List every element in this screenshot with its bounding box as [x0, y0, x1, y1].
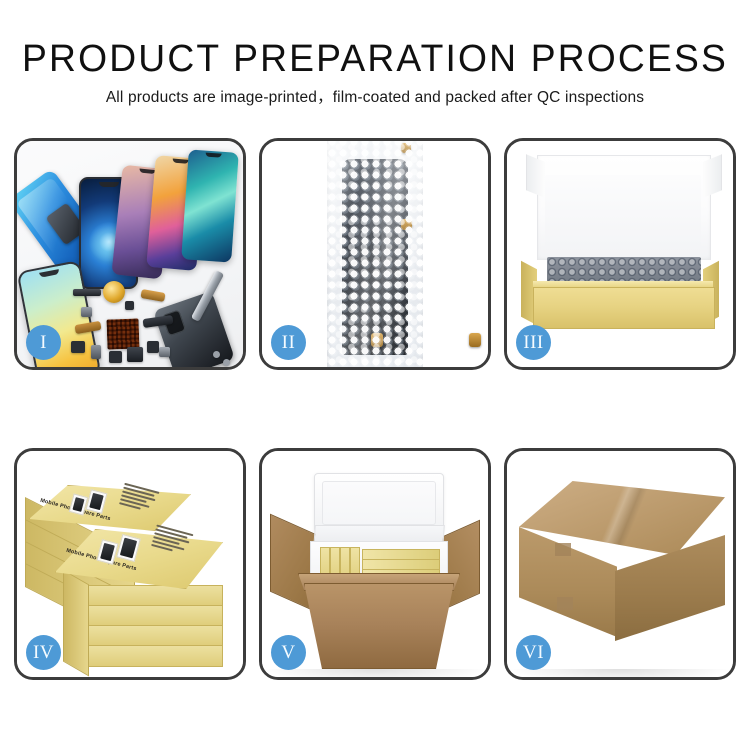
part-shape — [71, 341, 85, 353]
screw-shape — [213, 351, 220, 358]
copper-shield-shape — [106, 318, 139, 349]
page-subtitle: All products are image-printed，film-coat… — [0, 89, 750, 107]
part-shape — [127, 347, 143, 362]
step-badge-5: V — [271, 635, 306, 670]
step-badge-2: II — [271, 325, 306, 360]
carton-tape-shape — [555, 543, 571, 556]
box-face-shape — [81, 645, 223, 667]
screw-shape — [223, 359, 230, 366]
process-step-panel-2: II — [259, 138, 491, 370]
process-step-panel-1: I — [14, 138, 246, 370]
connector-shape — [469, 333, 481, 347]
box-face-shape — [81, 625, 223, 647]
step-badge-1: I — [26, 325, 61, 360]
drop-shadow — [507, 669, 733, 677]
flex-cable-shape — [140, 289, 165, 302]
step-badge-6: VI — [516, 635, 551, 670]
part-shape — [159, 347, 170, 357]
drop-shadow — [262, 669, 488, 677]
box-face-shape — [81, 585, 223, 607]
product-preparation-infographic: PRODUCT PREPARATION PROCESS All products… — [0, 0, 750, 750]
process-step-panel-5: V — [259, 448, 491, 680]
step-badge-4: IV — [26, 635, 61, 670]
part-shape — [81, 307, 92, 317]
plastic-sheen — [327, 141, 423, 367]
yellow-box-front-shape — [533, 287, 715, 329]
process-step-panel-6: VI — [504, 448, 736, 680]
header: PRODUCT PREPARATION PROCESS All products… — [0, 0, 750, 107]
phone-shape-c — [181, 149, 239, 262]
foam-sheet-shape — [545, 175, 701, 257]
speaker-coil-shape — [103, 281, 125, 303]
step-badge-3: III — [516, 325, 551, 360]
foam-lid-shape — [314, 473, 444, 533]
part-shape — [109, 351, 122, 363]
part-shape — [73, 289, 101, 296]
bubble-wrap-bag-shape — [327, 141, 423, 367]
part-shape — [91, 345, 101, 359]
process-step-grid: I II — [14, 138, 736, 680]
box-face-shape — [81, 605, 223, 627]
carton-body-shape — [304, 583, 454, 669]
carton-tape-shape — [557, 597, 573, 610]
box-edge-shape — [63, 569, 89, 676]
process-step-panel-3: III — [504, 138, 736, 370]
page-title: PRODUCT PREPARATION PROCESS — [8, 38, 743, 80]
part-shape — [125, 301, 134, 310]
process-step-panel-4: Mobile Phone Spare Parts Mobi — [14, 448, 246, 680]
part-shape — [147, 341, 159, 353]
